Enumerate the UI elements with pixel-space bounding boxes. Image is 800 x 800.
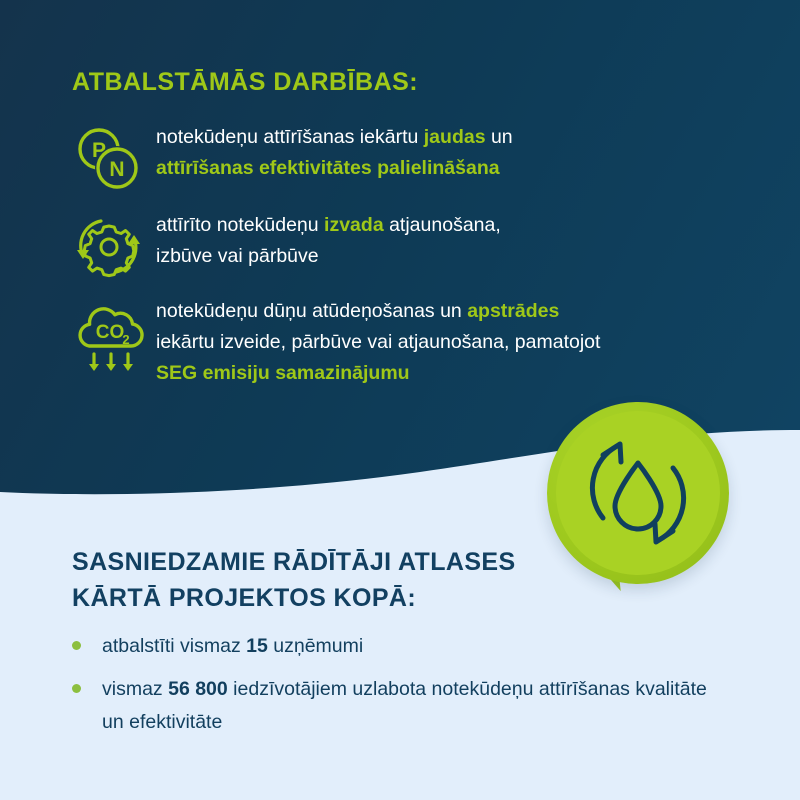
activity-2-line1-post: atjaunošana, bbox=[384, 214, 501, 236]
activity-1-line1-bold: jaudas bbox=[424, 126, 486, 148]
activity-3-line1-bold: apstrādes bbox=[467, 300, 559, 322]
activity-2-line1-bold: izvada bbox=[324, 214, 384, 236]
activity-item-1: P N notekūdeņu attīrīšanas iekārtu jauda… bbox=[72, 122, 513, 201]
indicator-2-text: vismaz 56 800 iedzīvotājiem uzlabota not… bbox=[102, 673, 722, 739]
water-recycle-badge bbox=[547, 402, 729, 614]
phosphorus-nitrogen-icon: P N bbox=[72, 122, 156, 201]
indicator-2-value: 56 800 bbox=[168, 678, 228, 700]
indicators-title: SASNIEDZAMIE RĀDĪTĀJI ATLASES KĀRTĀ PROJ… bbox=[72, 544, 516, 616]
svg-text:CO: CO bbox=[96, 322, 125, 343]
activity-item-2: attīrīto notekūdeņu izvada atjaunošana, … bbox=[72, 210, 501, 287]
activity-1-line1-pre: notekūdeņu attīrīšanas iekārtu bbox=[156, 126, 424, 148]
activity-1-line2-bold: attīrīšanas efektivitātes palielināšana bbox=[156, 157, 500, 179]
bullet-dot-icon bbox=[72, 673, 102, 693]
activity-3-line3-bold: SEG emisiju samazinājumu bbox=[156, 362, 410, 384]
indicators-title-line2: KĀRTĀ PROJEKTOS KOPĀ: bbox=[72, 580, 516, 616]
water-droplet-recycle-icon bbox=[575, 430, 701, 556]
bullet-dot-icon bbox=[72, 630, 102, 650]
indicator-2-pre: vismaz bbox=[102, 678, 168, 700]
indicator-1-post: uzņēmumi bbox=[268, 635, 363, 657]
activity-item-3: CO 2 notekūdeņu dūņu atūdeņošanas un aps… bbox=[72, 296, 600, 389]
co2-reduction-icon: CO 2 bbox=[72, 296, 156, 383]
list-item: vismaz 56 800 iedzīvotājiem uzlabota not… bbox=[72, 673, 722, 739]
indicators-list: atbalstīti vismaz 15 uzņēmumi vismaz 56 … bbox=[72, 630, 722, 749]
gear-recycle-icon bbox=[72, 210, 156, 287]
activity-item-2-text: attīrīto notekūdeņu izvada atjaunošana, … bbox=[156, 210, 501, 272]
activity-2-line2: izbūve vai pārbūve bbox=[156, 245, 319, 267]
indicator-1-pre: atbalstīti vismaz bbox=[102, 635, 246, 657]
svg-text:2: 2 bbox=[122, 332, 129, 347]
activity-3-line2-plain: iekārtu izveide, pārbūve vai atjaunošana… bbox=[156, 331, 600, 353]
activity-1-line1-post: un bbox=[486, 126, 513, 148]
indicators-title-line1: SASNIEDZAMIE RĀDĪTĀJI ATLASES bbox=[72, 544, 516, 580]
activity-item-3-text: notekūdeņu dūņu atūdeņošanas un apstrāde… bbox=[156, 296, 600, 389]
indicator-1-text: atbalstīti vismaz 15 uzņēmumi bbox=[102, 630, 363, 663]
activity-2-line1-pre: attīrīto notekūdeņu bbox=[156, 214, 324, 236]
activity-3-line1-pre: notekūdeņu dūņu atūdeņošanas un bbox=[156, 300, 467, 322]
infographic-canvas: ATBALSTĀMĀS DARBĪBAS: P N notekūdeņu att… bbox=[0, 0, 800, 800]
list-item: atbalstīti vismaz 15 uzņēmumi bbox=[72, 630, 722, 663]
svg-text:N: N bbox=[109, 158, 124, 181]
activity-item-1-text: notekūdeņu attīrīšanas iekārtu jaudas un… bbox=[156, 122, 513, 184]
supported-activities-title: ATBALSTĀMĀS DARBĪBAS: bbox=[72, 68, 418, 97]
indicator-1-value: 15 bbox=[246, 635, 268, 657]
